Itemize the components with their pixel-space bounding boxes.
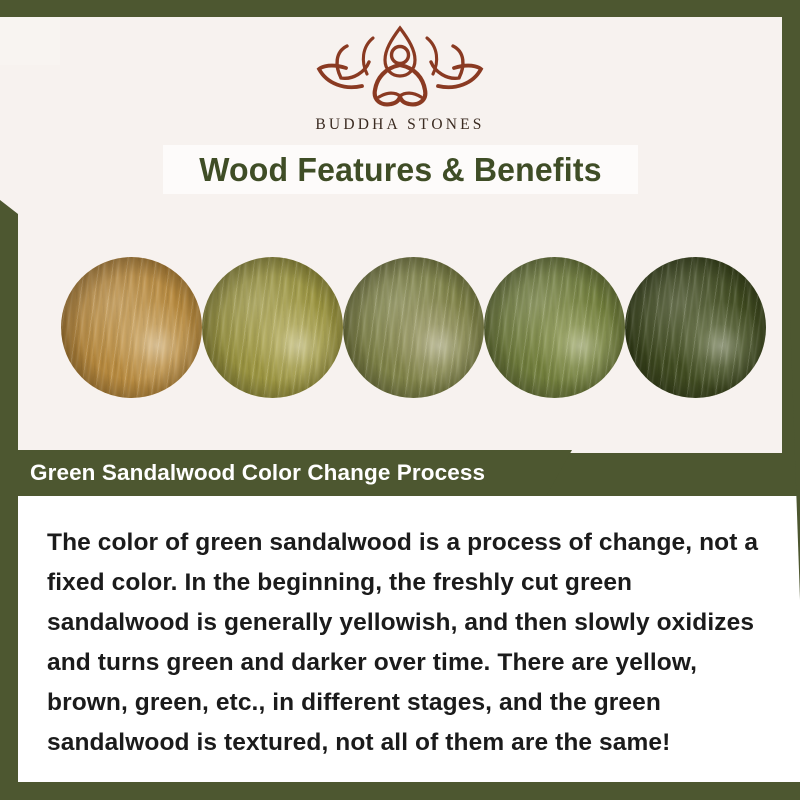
section-banner-label: Green Sandalwood Color Change Process xyxy=(30,460,485,486)
wood-bead-3 xyxy=(343,257,484,398)
lotus-meditation-icon xyxy=(305,22,495,110)
section-banner: Green Sandalwood Color Change Process xyxy=(0,450,572,496)
wood-bead-2 xyxy=(202,257,343,398)
wood-bead-5 xyxy=(625,257,766,398)
frame-bottom-bar xyxy=(0,782,800,800)
bead-shading xyxy=(202,257,343,398)
bead-shading xyxy=(484,257,625,398)
page-title-plate: Wood Features & Benefits xyxy=(163,145,638,194)
bead-shading xyxy=(625,257,766,398)
bead-shading xyxy=(343,257,484,398)
outer-green-frame: BUDDHA STONES Wood Features & Benefits G… xyxy=(0,0,800,800)
wood-bead-1 xyxy=(61,257,202,398)
description-card: The color of green sandalwood is a proce… xyxy=(18,496,800,782)
frame-left-bar xyxy=(0,200,18,800)
brand-logo: BUDDHA STONES xyxy=(0,22,800,134)
description-paragraph: The color of green sandalwood is a proce… xyxy=(47,523,765,763)
bead-shading xyxy=(61,257,202,398)
page-title: Wood Features & Benefits xyxy=(199,151,601,189)
wood-bead-4 xyxy=(484,257,625,398)
wood-bead-row xyxy=(18,253,782,401)
brand-name: BUDDHA STONES xyxy=(315,116,484,134)
